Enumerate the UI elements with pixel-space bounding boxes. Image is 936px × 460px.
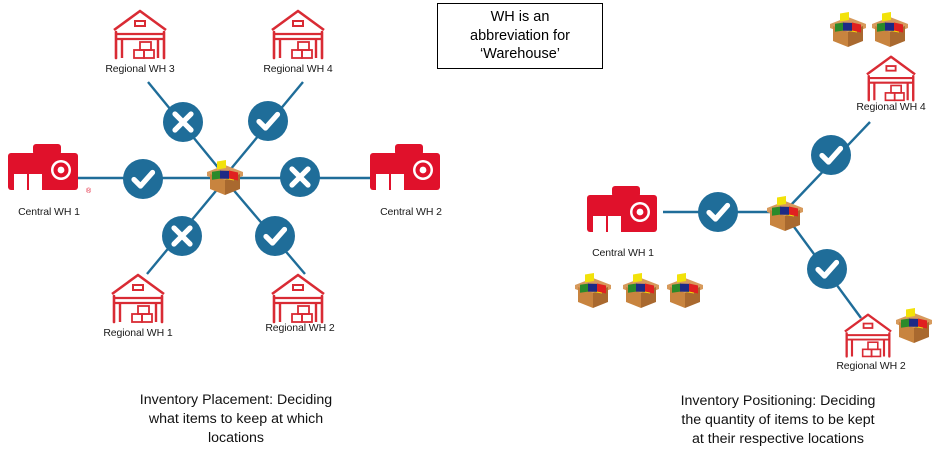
store-icon bbox=[368, 144, 446, 196]
node-label-regional-wh-4: Regional WH 4 bbox=[846, 101, 936, 113]
node-label-regional-wh-4: Regional WH 4 bbox=[253, 63, 343, 75]
node-label-regional-wh-2: Regional WH 2 bbox=[255, 322, 345, 334]
box-of-items-icon bbox=[826, 8, 870, 50]
right-panel-caption: Inventory Positioning: Deciding the quan… bbox=[630, 392, 926, 449]
warehouse-icon bbox=[110, 8, 170, 62]
box-of-items-icon bbox=[619, 269, 663, 311]
callout-line-2: abbreviation for bbox=[470, 27, 570, 46]
box-of-items-icon bbox=[763, 192, 807, 234]
warehouse-icon bbox=[862, 54, 920, 104]
node-label-central-wh-1: Central WH 1 bbox=[4, 206, 94, 218]
callout-note: WH is an abbreviation for ‘Warehouse’ bbox=[437, 3, 603, 69]
box-of-items-icon bbox=[571, 269, 615, 311]
caption-line-2: what items to keep at which bbox=[88, 410, 384, 429]
caption-line-3: at their respective locations bbox=[630, 430, 926, 449]
warehouse-icon bbox=[268, 8, 328, 62]
status-badge-check[interactable] bbox=[811, 135, 851, 175]
warehouse-icon bbox=[268, 272, 328, 326]
warehouse-icon bbox=[108, 272, 168, 326]
node-label-central-wh-1: Central WH 1 bbox=[578, 247, 668, 259]
status-badge-check[interactable] bbox=[255, 216, 295, 256]
status-badge-check[interactable] bbox=[248, 101, 288, 141]
node-label-regional-wh-3: Regional WH 3 bbox=[95, 63, 185, 75]
caption-line-1: Inventory Positioning: Deciding bbox=[630, 392, 926, 411]
status-badge-check[interactable] bbox=[698, 192, 738, 232]
node-label-regional-wh-1: Regional WH 1 bbox=[93, 327, 183, 339]
callout-line-3: ‘Warehouse’ bbox=[470, 45, 570, 64]
callout-line-1: WH is an bbox=[470, 8, 570, 27]
box-of-items-icon bbox=[663, 269, 707, 311]
box-of-items-icon bbox=[203, 156, 247, 198]
box-of-items-icon bbox=[892, 304, 936, 346]
status-badge-check[interactable] bbox=[123, 159, 163, 199]
figure-canvas: Regional WH 3 Regional WH 4 ® Central WH… bbox=[0, 0, 936, 460]
caption-line-2: the quantity of items to be kept bbox=[630, 411, 926, 430]
status-badge-cross[interactable] bbox=[280, 157, 320, 197]
store-icon bbox=[6, 144, 84, 196]
node-label-central-wh-2: Central WH 2 bbox=[366, 206, 456, 218]
caption-line-1: Inventory Placement: Deciding bbox=[88, 391, 384, 410]
left-panel-caption: Inventory Placement: Deciding what items… bbox=[88, 391, 384, 448]
caption-line-3: locations bbox=[88, 429, 384, 448]
warehouse-icon bbox=[840, 312, 896, 360]
status-badge-cross[interactable] bbox=[163, 102, 203, 142]
registered-mark-icon: ® bbox=[86, 188, 91, 195]
status-badge-cross[interactable] bbox=[162, 216, 202, 256]
store-icon bbox=[585, 186, 663, 238]
status-badge-check[interactable] bbox=[807, 249, 847, 289]
box-of-items-icon bbox=[868, 8, 912, 50]
node-label-regional-wh-2: Regional WH 2 bbox=[826, 360, 916, 372]
